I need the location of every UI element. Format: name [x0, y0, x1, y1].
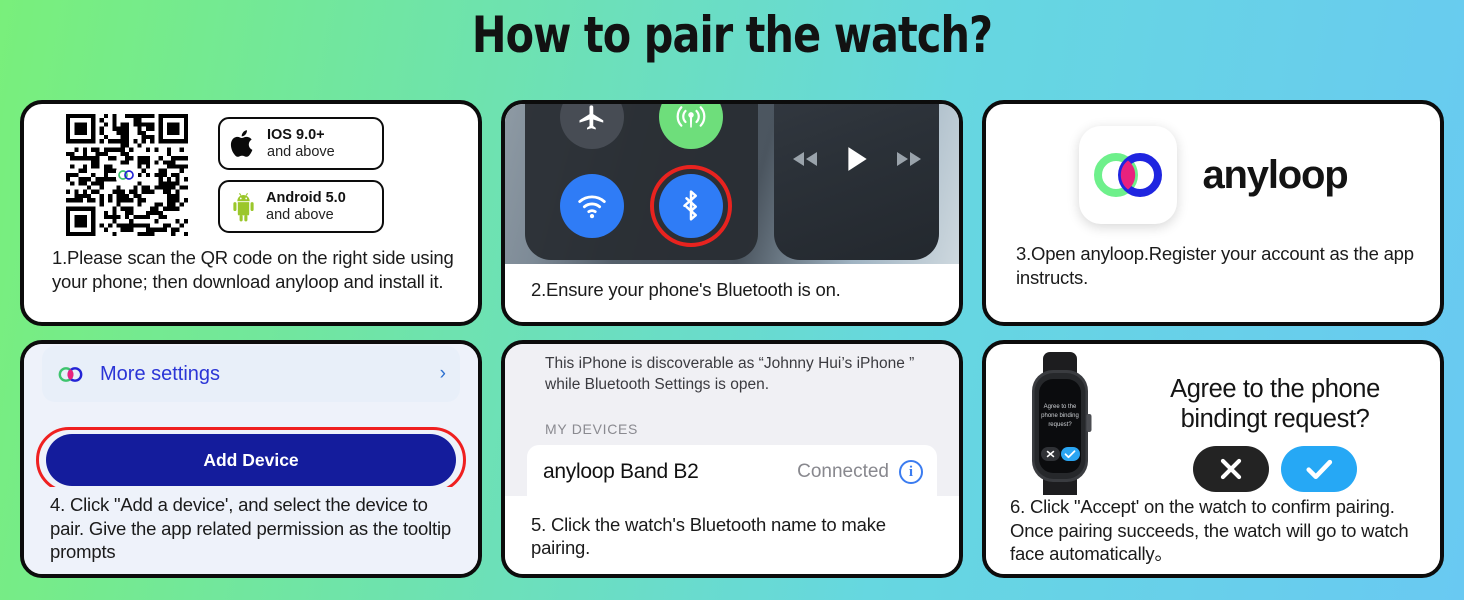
card-step-3: anyloop 3.Open anyloop.Register your acc… — [982, 100, 1444, 326]
badge-ios: IOS 9.0+ and above — [218, 117, 384, 170]
rewind-icon[interactable] — [790, 150, 820, 168]
card-6-caption: 6. Click "Accept' on the watch to confir… — [1010, 495, 1426, 566]
cellular-icon — [674, 104, 708, 134]
media-player-panel: Not Playing — [774, 104, 939, 260]
card-6-prompt: Agree to the phone bindingt request? — [1126, 352, 1424, 492]
anyloop-app-icon[interactable] — [1079, 126, 1177, 224]
card-6-caption-area: 6. Click "Accept' on the watch to confir… — [986, 495, 1440, 574]
badge-android-version: Android 5.0 — [266, 190, 346, 206]
page-title: How to pair the watch? — [59, 8, 1406, 63]
card-5-caption: 5. Click the watch's Bluetooth name to m… — [531, 513, 943, 560]
connectivity-toggle-group — [525, 104, 758, 260]
card-step-2: Not Playing 2.Ensure yo — [501, 100, 963, 326]
card-6-visual: Agree to the phone binding request? Agre… — [986, 344, 1440, 502]
add-device-button-wrap: Add Device — [46, 434, 456, 486]
badge-ios-version: IOS 9.0+ — [267, 127, 335, 143]
card-3-visual: anyloop — [986, 104, 1440, 224]
play-icon[interactable] — [844, 145, 870, 173]
card-step-5: This iPhone is discoverable as “Johnny H… — [501, 340, 963, 578]
card-step-6: Agree to the phone binding request? Agre… — [982, 340, 1444, 578]
svg-text:phone binding: phone binding — [1041, 413, 1079, 419]
reject-button[interactable] — [1193, 446, 1269, 492]
my-devices-header: MY DEVICES — [545, 421, 919, 437]
card-2-caption: 2.Ensure your phone's Bluetooth is on. — [531, 278, 959, 302]
card-4-caption-area: 4. Click "Add a device', and select the … — [24, 487, 478, 574]
device-status: Connected — [797, 461, 889, 483]
ios-control-center-screenshot: Not Playing — [505, 104, 959, 272]
cellular-data-toggle[interactable] — [659, 104, 723, 149]
svg-text:Agree to the: Agree to the — [1044, 404, 1077, 410]
badge-ios-sub: and above — [267, 144, 335, 160]
steps-grid: IOS 9.0+ and above — [20, 100, 1444, 578]
more-settings-row[interactable]: More settings › — [42, 346, 460, 402]
fast-forward-icon[interactable] — [894, 150, 924, 168]
anyloop-logo-icon — [56, 366, 86, 383]
wifi-icon — [576, 190, 608, 222]
anyloop-logo-icon — [1089, 150, 1167, 200]
binding-question: Agree to the phone bindingt request? — [1126, 374, 1424, 434]
bluetooth-discoverable-note: This iPhone is discoverable as “Johnny H… — [545, 354, 919, 395]
highlight-ring — [650, 165, 732, 247]
chevron-right-icon: › — [440, 363, 446, 385]
airplane-icon — [577, 104, 607, 132]
bluetooth-device-row[interactable]: anyloop Band B2 Connected i — [527, 445, 937, 499]
accept-button[interactable] — [1281, 446, 1357, 492]
ios-bluetooth-settings-screenshot: This iPhone is discoverable as “Johnny H… — [505, 344, 959, 496]
card-4-caption: 4. Click "Add a device', and select the … — [50, 493, 462, 564]
badge-android-sub: and above — [266, 207, 346, 223]
apple-icon — [230, 128, 258, 160]
highlight-ring — [36, 427, 466, 493]
card-1-visual: IOS 9.0+ and above — [24, 104, 478, 236]
info-icon[interactable]: i — [899, 460, 923, 484]
android-icon — [230, 191, 257, 222]
anyloop-logo-icon — [116, 169, 138, 181]
card-5-caption-area: 5. Click the watch's Bluetooth name to m… — [505, 505, 959, 574]
more-settings-label: More settings — [100, 363, 426, 386]
watch-illustration-icon: Agree to the phone binding request? — [1010, 352, 1110, 502]
platform-badges: IOS 9.0+ and above — [218, 117, 384, 233]
svg-text:request?: request? — [1048, 422, 1072, 428]
x-icon — [1216, 454, 1246, 484]
device-name: anyloop Band B2 — [543, 460, 797, 484]
smartwatch-image: Agree to the phone binding request? — [1010, 352, 1110, 502]
card-1-caption: 1.Please scan the QR code on the right s… — [24, 236, 478, 293]
badge-android: Android 5.0 and above — [218, 180, 384, 233]
brand-name: anyloop — [1203, 153, 1348, 198]
wifi-toggle[interactable] — [560, 174, 624, 238]
airplane-mode-toggle[interactable] — [560, 104, 624, 149]
card-2-caption-area: 2.Ensure your phone's Bluetooth is on. — [505, 264, 959, 322]
card-3-caption: 3.Open anyloop.Register your account as … — [986, 224, 1440, 289]
bluetooth-toggle[interactable] — [659, 174, 723, 238]
check-icon — [1303, 454, 1335, 484]
qr-code[interactable] — [66, 114, 188, 236]
card-step-1: IOS 9.0+ and above — [20, 100, 482, 326]
card-step-4: More settings › Add Device 4. Click "Add… — [20, 340, 482, 578]
media-status: Not Playing — [812, 104, 902, 105]
